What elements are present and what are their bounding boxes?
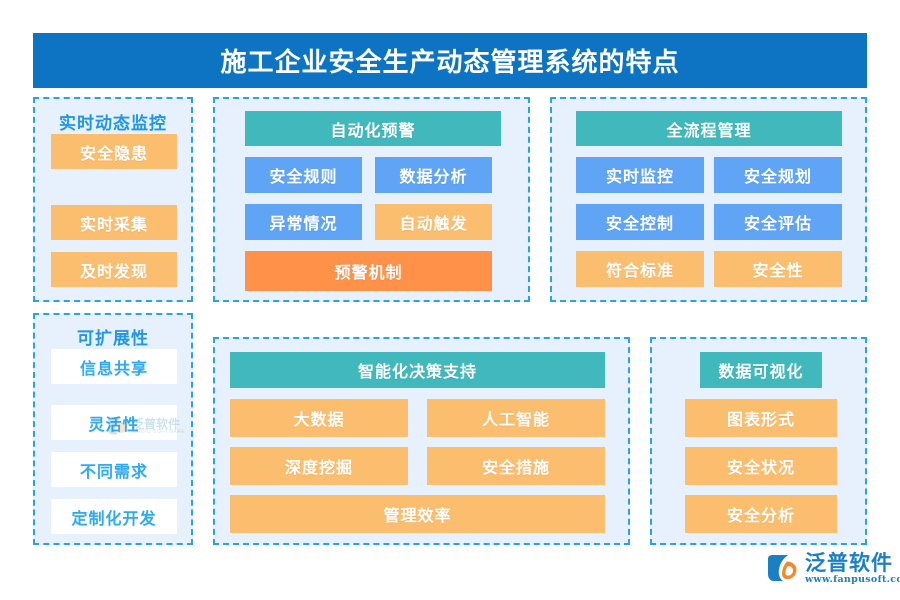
chip-scalable-1[interactable]: 不同需求 bbox=[51, 452, 177, 487]
chip-scalable-3[interactable]: 信息共享 bbox=[51, 349, 177, 384]
brand-logo-icon bbox=[766, 553, 800, 583]
page-banner: 施工企业安全生产动态管理系统的特点 bbox=[33, 33, 867, 88]
chip-flow-4[interactable]: 符合标准 bbox=[576, 251, 704, 287]
brand-url: www.fanpusoft.com bbox=[805, 575, 900, 585]
panel-data-visualization: 数据可视化 图表形式 安全状况 安全分析 bbox=[650, 337, 867, 545]
chip-smart-1[interactable]: 人工智能 bbox=[427, 399, 605, 437]
chip-auto-2[interactable]: 异常情况 bbox=[245, 204, 362, 240]
panel-header-data-visualization: 数据可视化 bbox=[700, 352, 822, 388]
chip-visual-2[interactable]: 安全分析 bbox=[685, 495, 837, 533]
chip-auto-0[interactable]: 安全规则 bbox=[245, 157, 362, 193]
chip-auto-3[interactable]: 自动触发 bbox=[375, 204, 492, 240]
chip-smart-2[interactable]: 深度挖掘 bbox=[230, 447, 408, 485]
panel-header-smart-decision: 智能化决策支持 bbox=[230, 352, 605, 388]
chip-flow-2[interactable]: 安全控制 bbox=[576, 204, 704, 240]
panel-full-process-management: 全流程管理 实时监控 安全规划 安全控制 安全评估 符合标准 安全性 bbox=[550, 97, 867, 302]
chip-auto-4[interactable]: 预警机制 bbox=[245, 251, 492, 291]
chip-visual-0[interactable]: 图表形式 bbox=[685, 399, 837, 437]
brand-logo-words: 泛普软件 www.fanpusoft.com bbox=[805, 552, 900, 585]
chip-visual-1[interactable]: 安全状况 bbox=[685, 447, 837, 485]
chip-smart-3[interactable]: 安全措施 bbox=[427, 447, 605, 485]
chip-flow-0[interactable]: 实时监控 bbox=[576, 157, 704, 193]
page-title: 施工企业安全生产动态管理系统的特点 bbox=[220, 42, 679, 79]
brand-name: 泛普软件 bbox=[805, 552, 900, 573]
panel-header-automated-warning: 自动化预警 bbox=[245, 111, 501, 146]
panel-realtime-monitor: 实时动态监控 实时采集 及时发现 安全隐患 bbox=[33, 97, 193, 302]
panel-automated-warning: 自动化预警 安全规则 数据分析 异常情况 自动触发 预警机制 bbox=[213, 97, 530, 302]
panel-scalability: 可扩展性 灵活性 不同需求 定制化开发 信息共享 泛普软件 FANPU SOFT… bbox=[33, 313, 193, 545]
chip-flow-1[interactable]: 安全规划 bbox=[714, 157, 842, 193]
chip-scalable-2[interactable]: 定制化开发 bbox=[51, 499, 177, 534]
chip-auto-1[interactable]: 数据分析 bbox=[375, 157, 492, 193]
diagram-canvas: 施工企业安全生产动态管理系统的特点 实时动态监控 实时采集 及时发现 安全隐患 … bbox=[0, 0, 900, 600]
panel-title-realtime-monitor: 实时动态监控 bbox=[35, 109, 191, 134]
chip-monitor-1[interactable]: 及时发现 bbox=[51, 252, 177, 287]
panel-header-full-process: 全流程管理 bbox=[576, 111, 842, 146]
chip-smart-4[interactable]: 管理效率 bbox=[230, 495, 605, 533]
chip-smart-0[interactable]: 大数据 bbox=[230, 399, 408, 437]
panel-smart-decision-support: 智能化决策支持 大数据 人工智能 深度挖掘 安全措施 管理效率 bbox=[213, 337, 630, 545]
panel-title-scalability: 可扩展性 bbox=[35, 324, 191, 349]
chip-monitor-2[interactable]: 安全隐患 bbox=[51, 134, 177, 169]
chip-scalable-0[interactable]: 灵活性 bbox=[51, 405, 177, 440]
brand-logo[interactable]: 泛普软件 www.fanpusoft.com bbox=[766, 552, 900, 585]
chip-flow-5[interactable]: 安全性 bbox=[714, 251, 842, 287]
chip-monitor-0[interactable]: 实时采集 bbox=[51, 205, 177, 240]
chip-flow-3[interactable]: 安全评估 bbox=[714, 204, 842, 240]
